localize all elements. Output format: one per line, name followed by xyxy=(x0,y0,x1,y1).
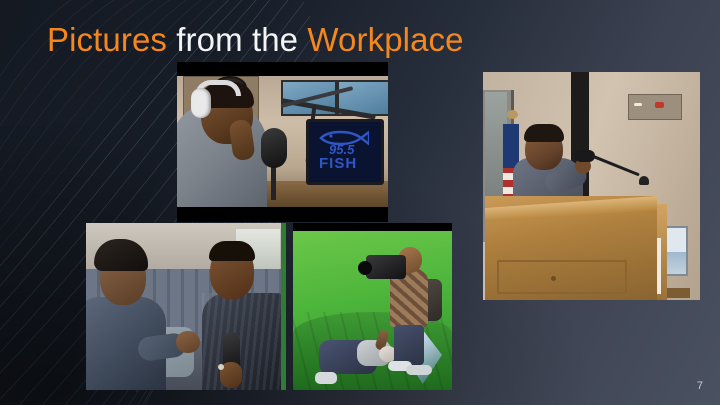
studio-microphone xyxy=(261,128,287,168)
actor-shoe xyxy=(315,372,337,384)
speaker-hair xyxy=(524,124,564,142)
wall-display-content xyxy=(664,252,686,274)
page-title: Pictures from the Workplace xyxy=(47,19,464,61)
ceiling-light xyxy=(634,103,642,106)
interviewer-hand xyxy=(176,331,200,353)
photo-radio-studio[interactable]: 95.5 FISH xyxy=(177,62,388,222)
radio-studio-scene: 95.5 FISH xyxy=(177,76,388,207)
interviewee-shirt-pattern xyxy=(202,293,286,390)
photo-couch-interview[interactable] xyxy=(86,223,286,390)
camera-lens-icon xyxy=(358,261,372,275)
operator-jeans xyxy=(394,325,424,365)
station-name: FISH xyxy=(319,155,357,172)
photo-podium-speaker[interactable] xyxy=(483,72,700,300)
flag-finial xyxy=(507,110,518,119)
headphone-earcup xyxy=(191,88,211,118)
green-letterbox-top xyxy=(293,223,452,231)
title-segment-pictures: Pictures xyxy=(47,21,176,58)
interviewee-ring xyxy=(218,364,224,370)
green-backdrop-edge xyxy=(281,223,286,390)
presentation-slide: Pictures from the Workplace xyxy=(0,0,720,405)
exit-indicator-light xyxy=(655,102,664,108)
american-flag-canton xyxy=(503,124,519,168)
title-segment-from-the: from the xyxy=(176,21,307,58)
interviewee-hair xyxy=(209,241,255,261)
podium-panel-knob xyxy=(551,276,556,281)
podium-front-panel xyxy=(497,260,627,294)
podium-microphone xyxy=(639,176,649,185)
title-segment-workplace: Workplace xyxy=(307,21,463,58)
video-camera xyxy=(366,255,406,279)
operator-shoe-right xyxy=(406,365,432,375)
page-number: 7 xyxy=(697,380,703,392)
photo-green-screen-shoot[interactable] xyxy=(293,223,452,390)
camera-operator xyxy=(384,245,438,349)
letterbox-bottom xyxy=(177,207,388,222)
letterbox-top xyxy=(177,62,388,76)
studio-monitor: 95.5 FISH xyxy=(306,119,384,185)
